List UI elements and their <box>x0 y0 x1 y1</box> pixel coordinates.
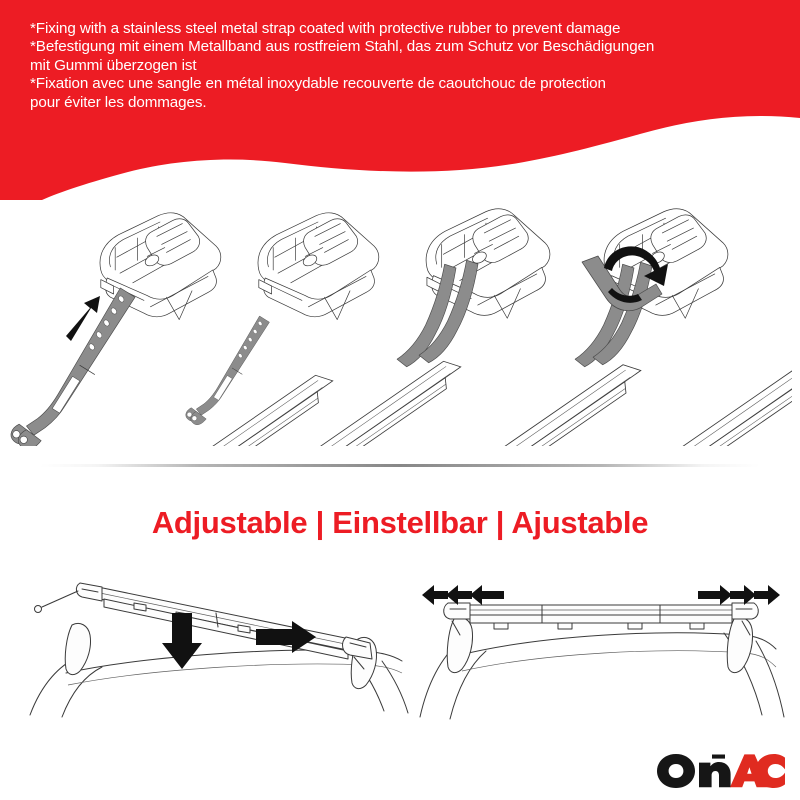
car-roof-outline <box>30 623 408 717</box>
section-title-adjustable: Adjustable | Einstellbar | Ajustable <box>0 505 800 541</box>
section-divider <box>40 464 760 467</box>
installation-steps-diagram: .ln { fill:none; stroke:#3A3A3A; stroke-… <box>8 196 792 446</box>
diagram-crossbar-placement <box>30 583 408 717</box>
logo-letter-o <box>657 754 695 788</box>
omac-logo-mark <box>655 748 787 790</box>
banner-description-text: *Fixing with a stainless steel metal str… <box>30 20 790 112</box>
crossbar-horizontal <box>444 603 759 635</box>
logo-letter-m <box>699 755 731 788</box>
triple-arrow-right <box>698 585 780 605</box>
triple-arrow-left <box>422 585 504 605</box>
adjustability-diagram: .cl { fill:none; stroke:#3A3A3A; stroke-… <box>20 565 790 735</box>
diagram-crossbar-width-adjust <box>420 585 784 719</box>
car-roof-outline <box>420 617 784 719</box>
product-infographic-page: *Fixing with a stainless steel metal str… <box>0 0 800 800</box>
omac-logo <box>655 748 787 790</box>
